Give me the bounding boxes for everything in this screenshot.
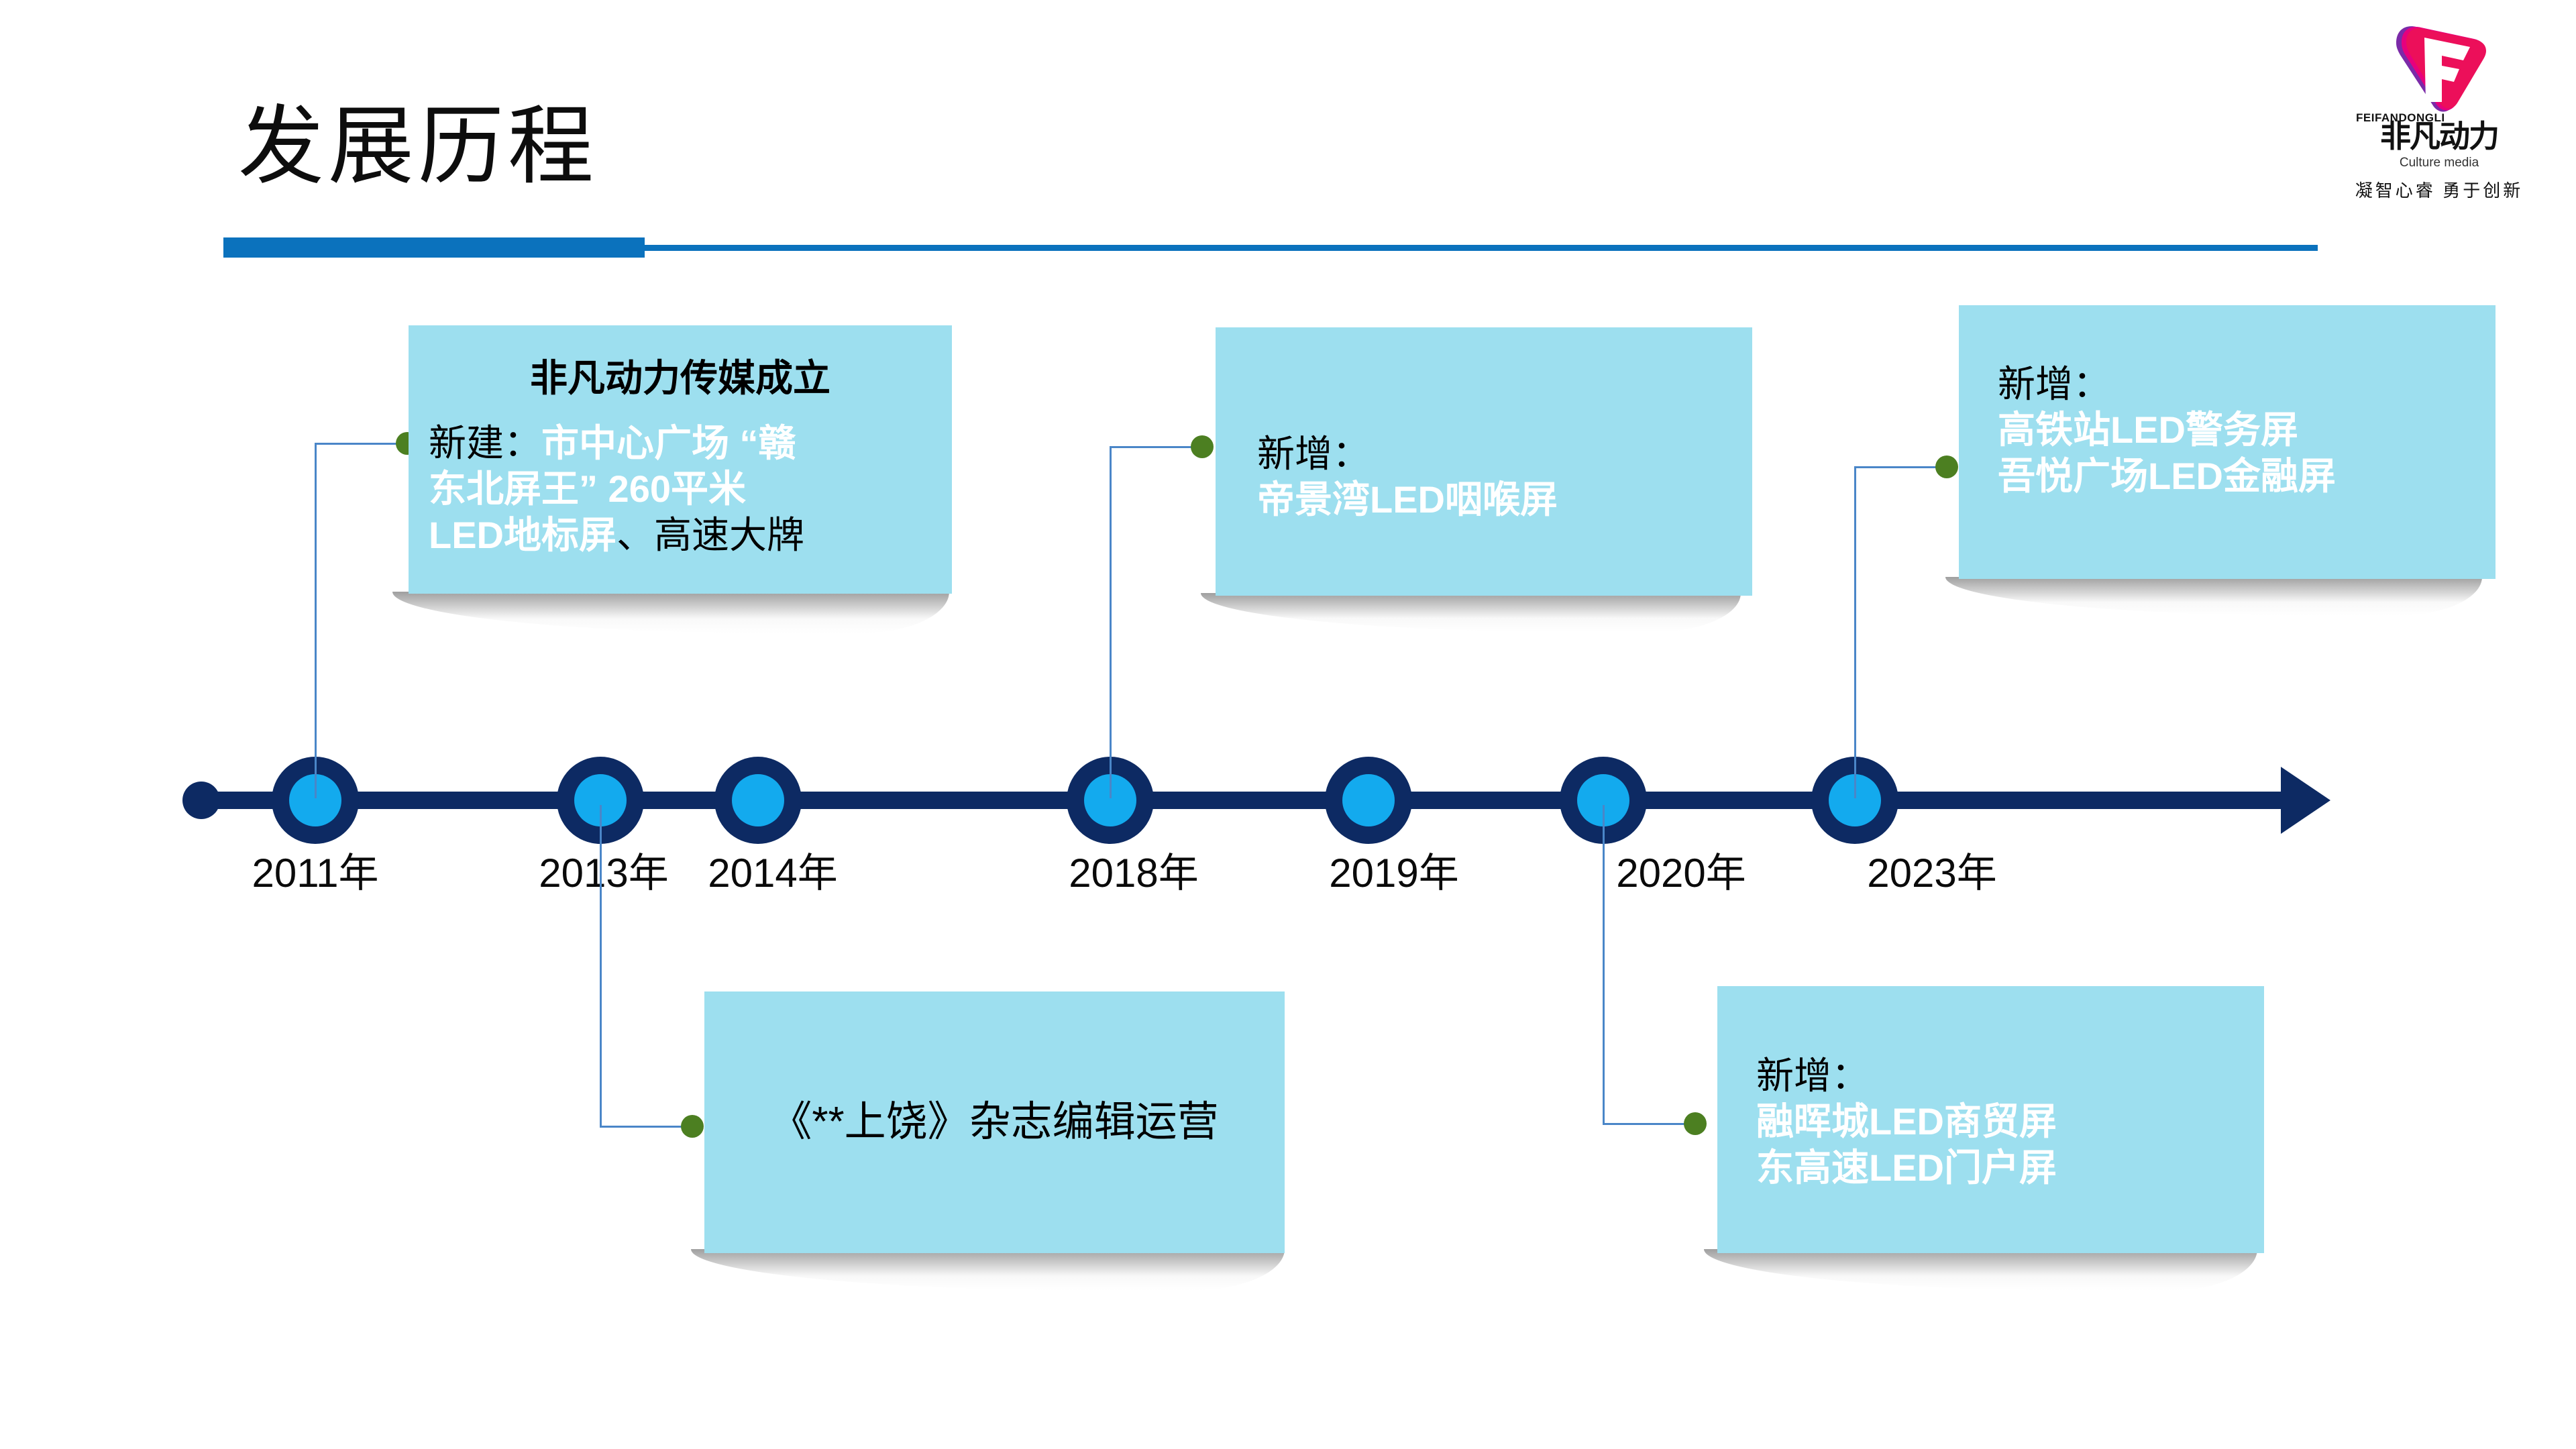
timeline-axis-arrow-icon — [2281, 767, 2330, 834]
timeline-node-2014[interactable] — [714, 757, 802, 844]
logo-tagline: 凝智心睿 勇于创新 — [2352, 177, 2526, 202]
card-2020[interactable]: 新增： 融晖城LED商贸屏 东高速LED门户屏 — [1717, 986, 2264, 1253]
page-title: 发展历程 — [238, 104, 598, 190]
card-2011-line-1: 新建：市中心广场 “赣 — [429, 421, 952, 466]
timeline-node-2019[interactable] — [1325, 757, 1412, 844]
connector-dot-2023 — [1935, 455, 1958, 478]
card-2020-line-3: 东高速LED门户屏 — [1756, 1145, 2264, 1191]
year-label-2013: 2013年 — [539, 841, 668, 899]
card-2014[interactable]: 《**上饶》杂志编辑运营 — [704, 991, 1285, 1253]
connector-dot-2020 — [1684, 1112, 1707, 1135]
card-2023-line-1: 新增： — [1998, 362, 2495, 407]
card-2018[interactable]: 新增： 帝景湾LED咽喉屏 — [1216, 327, 1752, 596]
connector-dot-2018 — [1191, 435, 1214, 458]
year-label-2011: 2011年 — [252, 841, 378, 899]
logo-subtitle: Culture media — [2352, 156, 2526, 170]
title-underline-thin — [641, 245, 2318, 251]
year-label-2019: 2019年 — [1329, 841, 1458, 899]
card-2023-line-2: 高铁站LED警务屏 — [1998, 407, 2495, 453]
company-logo: FEIFANDONGLI 非凡动力 Culture media 凝智心睿 勇于创… — [2352, 20, 2526, 221]
card-2023-line-3: 吾悦广场LED金融屏 — [1998, 453, 2495, 499]
card-shadow-2014 — [691, 1249, 1285, 1291]
year-label-2014: 2014年 — [708, 841, 837, 899]
card-2018-line-1: 新增： — [1257, 431, 1752, 477]
year-label-2023: 2023年 — [1867, 841, 1996, 899]
card-2020-line-2: 融晖城LED商贸屏 — [1756, 1099, 2264, 1144]
connector-dot-2013 — [681, 1115, 704, 1138]
card-2018-line-2: 帝景湾LED咽喉屏 — [1257, 477, 1752, 523]
card-shadow-2023 — [1945, 577, 2482, 616]
card-2011-line-3: LED地标屏、高速大牌 — [429, 513, 952, 558]
year-label-2020: 2020年 — [1616, 841, 1746, 899]
timeline-axis-line — [195, 792, 2301, 809]
card-2023[interactable]: 新增： 高铁站LED警务屏 吾悦广场LED金融屏 — [1959, 305, 2495, 579]
title-underline-thick — [223, 237, 645, 258]
card-2020-line-1: 新增： — [1756, 1053, 2264, 1099]
card-2011-title: 非凡动力传媒成立 — [409, 325, 952, 402]
card-shadow-2018 — [1201, 593, 1741, 632]
feifandongli-f-mark-icon — [2384, 20, 2491, 114]
slide-canvas: 发展历程 FEIFANDONGLI 非凡动力 Culture media 凝智心… — [0, 0, 2576, 1449]
card-2011[interactable]: 非凡动力传媒成立 新建：市中心广场 “赣 东北屏王” 260平米 LED地标屏、… — [409, 325, 952, 594]
card-2011-line-2: 东北屏王” 260平米 — [429, 466, 952, 512]
card-shadow-2020 — [1704, 1249, 2257, 1291]
logo-chinese-text: 非凡动力 — [2352, 121, 2526, 152]
year-label-2018: 2018年 — [1069, 841, 1198, 899]
card-shadow-2011 — [392, 592, 949, 633]
card-2014-text: 《**上饶》杂志编辑运营 — [770, 1095, 1218, 1150]
